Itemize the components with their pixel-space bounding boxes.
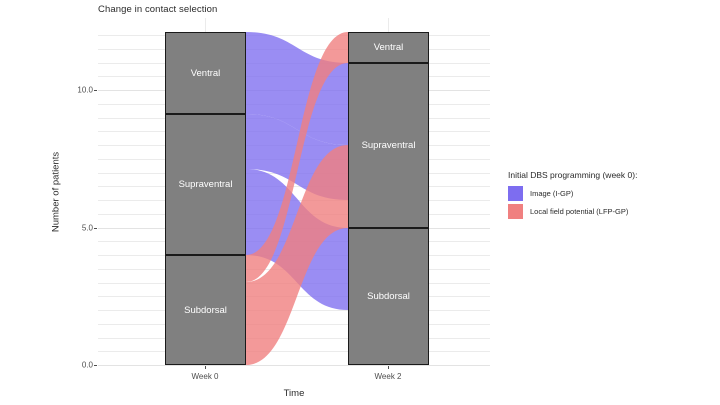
stratum-label: Ventral [191, 68, 221, 79]
legend-swatch-image [508, 186, 523, 201]
stratum-week0-ventral[interactable]: Ventral [165, 32, 246, 114]
y-tick-mark-0 [94, 365, 97, 366]
y-tick-mark-5 [94, 228, 97, 229]
x-tick-mark-week2 [388, 366, 389, 369]
stratum-week0-subdorsal[interactable]: Subdorsal [165, 255, 246, 365]
stratum-label: Ventral [374, 42, 404, 53]
legend-item-lfp[interactable]: Local field potential (LFP-GP) [508, 204, 713, 219]
stratum-week2-subdorsal[interactable]: Subdorsal [348, 228, 429, 365]
legend: Initial DBS programming (week 0): Image … [508, 170, 713, 222]
stratum-label: Subdorsal [367, 291, 410, 302]
stratum-week2-supraventral[interactable]: Supraventral [348, 63, 429, 228]
legend-item-image[interactable]: Image (I-GP) [508, 186, 713, 201]
x-axis-title: Time [98, 388, 490, 399]
x-tick-mark-week0 [205, 366, 206, 369]
stratum-week0-supraventral[interactable]: Supraventral [165, 114, 246, 255]
stratum-label: Supraventral [362, 140, 416, 151]
x-tick-label-week2: Week 2 [375, 372, 402, 381]
x-tick-label-week0: Week 0 [192, 372, 219, 381]
legend-title: Initial DBS programming (week 0): [508, 170, 713, 180]
legend-swatch-lfp [508, 204, 523, 219]
stratum-label: Supraventral [179, 179, 233, 190]
legend-label-image: Image (I-GP) [530, 189, 573, 198]
y-tick-label-5: 5.0 [82, 223, 93, 232]
y-axis-title: Number of patients [51, 152, 62, 232]
chart-root: Change in contact selection [0, 0, 720, 405]
y-tick-mark-10 [94, 90, 97, 91]
y-tick-label-10: 10.0 [77, 86, 93, 95]
stratum-label: Subdorsal [184, 305, 227, 316]
plot-panel: Ventral Supraventral Subdorsal Ventral S… [98, 18, 490, 366]
alluvial-flows [98, 18, 490, 366]
legend-label-lfp: Local field potential (LFP-GP) [530, 207, 628, 216]
stratum-week2-ventral[interactable]: Ventral [348, 32, 429, 63]
page-title: Change in contact selection [98, 4, 217, 15]
y-tick-label-0: 0.0 [82, 361, 93, 370]
